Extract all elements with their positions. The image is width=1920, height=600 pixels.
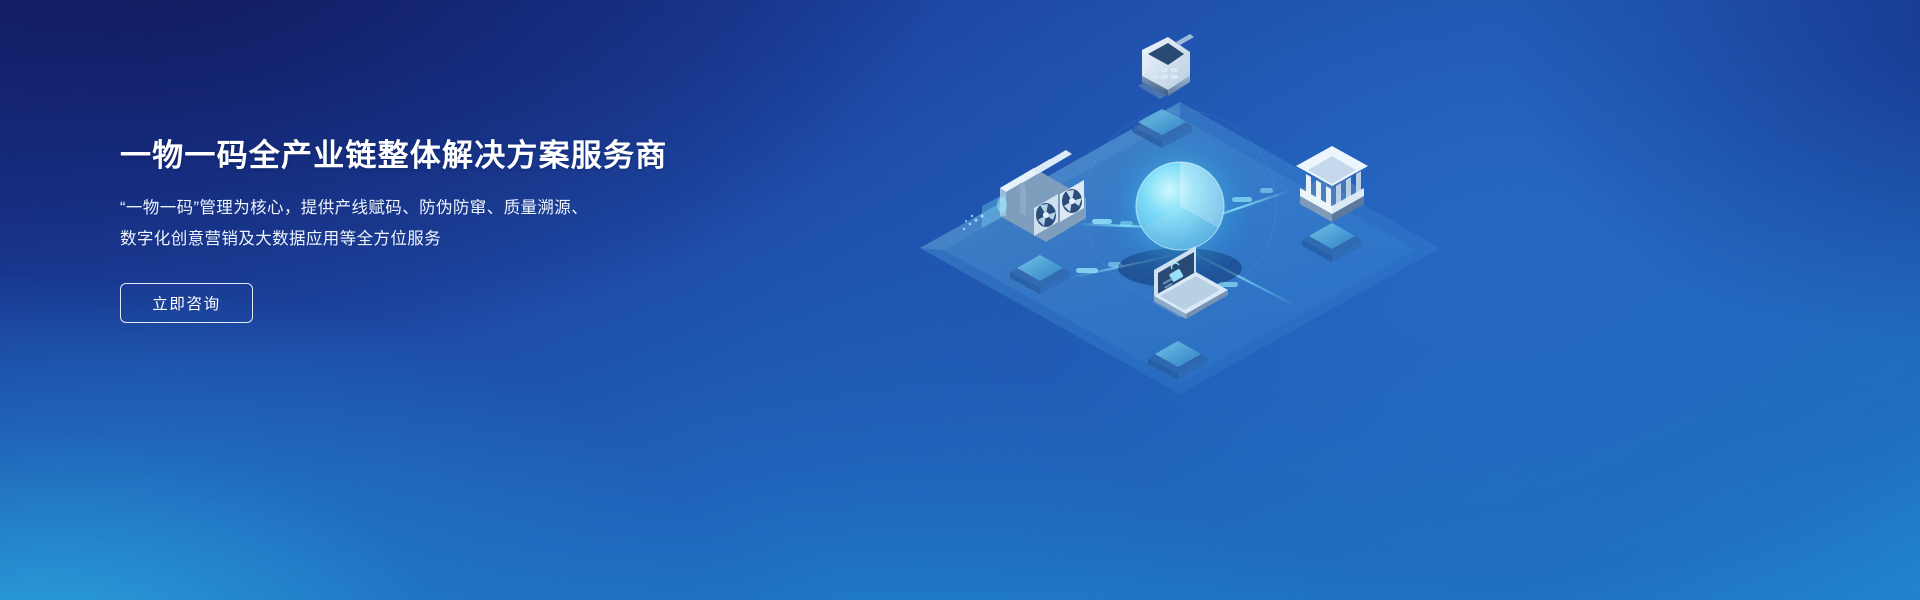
consult-now-button[interactable]: 立即咨询 — [120, 283, 253, 323]
hero-banner: 一物一码全产业链整体解决方案服务商 “一物一码”管理为核心，提供产线赋码、防伪防… — [0, 0, 1920, 600]
pos-terminal-icon — [1132, 34, 1194, 148]
hero-illustration — [880, 10, 1500, 410]
subtitle-line-2: 数字化创意营销及大数据应用等全方位服务 — [120, 224, 880, 255]
bank-building-icon — [1296, 146, 1368, 262]
page-title: 一物一码全产业链整体解决方案服务商 — [120, 136, 880, 176]
subtitle-line-1: “一物一码”管理为核心，提供产线赋码、防伪防窜、质量溯源、 — [120, 193, 880, 224]
hero-copy-block: 一物一码全产业链整体解决方案服务商 “一物一码”管理为核心，提供产线赋码、防伪防… — [120, 136, 880, 323]
hero-subtitle: “一物一码”管理为核心，提供产线赋码、防伪防窜、质量溯源、 数字化创意营销及大数… — [120, 193, 880, 255]
